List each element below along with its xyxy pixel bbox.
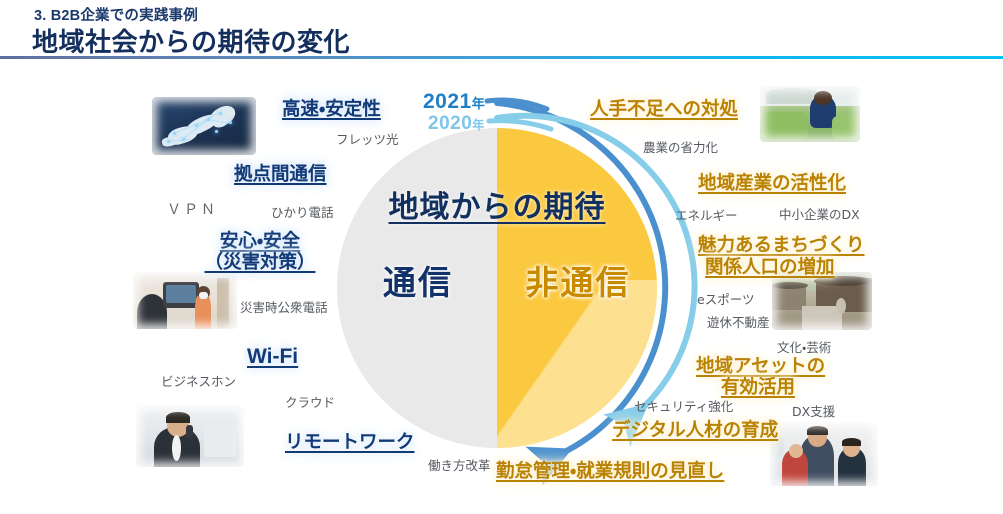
year-2021-suffix: 年 [472, 96, 486, 111]
sub-cloud: クラウド [285, 392, 335, 411]
year-badge-2020: 2020年 [428, 113, 485, 135]
keyword-effective-use: 有効活用 [721, 376, 795, 398]
circle-label-non-telecom: 非通信 [499, 256, 657, 304]
year-2020-value: 2020 [428, 113, 472, 134]
keyword-wifi: Wi-Fi [247, 345, 298, 370]
sub-esports: eスポーツ [697, 289, 754, 308]
sub-security-strengthening: セキュリティ強化 [634, 396, 733, 415]
sub-hikari-denwa: ひかり電話 [271, 202, 334, 221]
sub-culture-arts: 文化・芸術 [777, 337, 831, 356]
keyword-attendance-rules: 勤怠管理・就業規則の見直し [496, 460, 724, 482]
arc-2021-tail [487, 100, 547, 109]
keyword-digital-talent: デジタル人材の育成 [612, 419, 778, 441]
expectation-circle: 地域からの期待 通信 非通信 [337, 128, 657, 448]
page-title: 地域社会からの期待の変化 [32, 22, 350, 59]
photo-greenhouse-farming [760, 86, 860, 142]
sub-idle-realestate: 遊休不動産 [707, 312, 770, 331]
slide-canvas: 3. B2B企業での実践事例 地域社会からの期待の変化 地域からの期待 通信 非… [0, 0, 1003, 514]
photo-workshop-training [770, 422, 878, 486]
keyword-labor-shortage: 人手不足への対処 [590, 98, 738, 120]
photo-online-classroom [133, 272, 237, 329]
sub-business-phone: ビジネスホン [161, 371, 236, 390]
circle-label-telecom: 通信 [339, 256, 497, 304]
sub-agri-labor-saving: 農業の省力化 [643, 137, 718, 156]
sub-dx-support: DX支援 [792, 401, 835, 420]
keyword-inter-site-comms: 拠点間通信 [234, 163, 327, 185]
year-badge-2021: 2021年 [423, 90, 485, 114]
sub-flets-hikari: フレッツ光 [336, 129, 399, 148]
sub-energy: エネルギー [675, 205, 738, 224]
sub-sme-dx: 中小企業のDX [779, 204, 860, 223]
keyword-regional-industry: 地域産業の活性化 [698, 172, 846, 194]
keyword-disaster-measures: （災害対策） [196, 251, 324, 273]
keyword-attractive-town: 魅力あるまちづくり [698, 234, 865, 256]
circle-heading: 地域からの期待 [337, 182, 657, 226]
keyword-regional-assets: 地域アセットの [696, 355, 825, 377]
keyword-remote-work: リモートワーク [285, 431, 415, 453]
sub-disaster-payphone: 災害時公衆電話 [240, 297, 328, 316]
photo-japan-network-map [152, 97, 256, 155]
year-2021-value: 2021 [423, 90, 472, 113]
photo-traditional-town-street [772, 272, 872, 330]
sub-work-style-reform: 働き方改革 [428, 455, 491, 474]
photo-businessman-on-phone [136, 405, 244, 467]
keyword-related-population: 関係人口の増加 [705, 256, 835, 278]
sub-vpn: ＶＰＮ [167, 199, 218, 219]
keyword-safety-security: 安心・安全 [200, 230, 320, 252]
header-divider [0, 56, 1003, 59]
keyword-high-speed-stability: 高速・安定性 [282, 98, 381, 120]
year-2020-suffix: 年 [472, 118, 485, 132]
